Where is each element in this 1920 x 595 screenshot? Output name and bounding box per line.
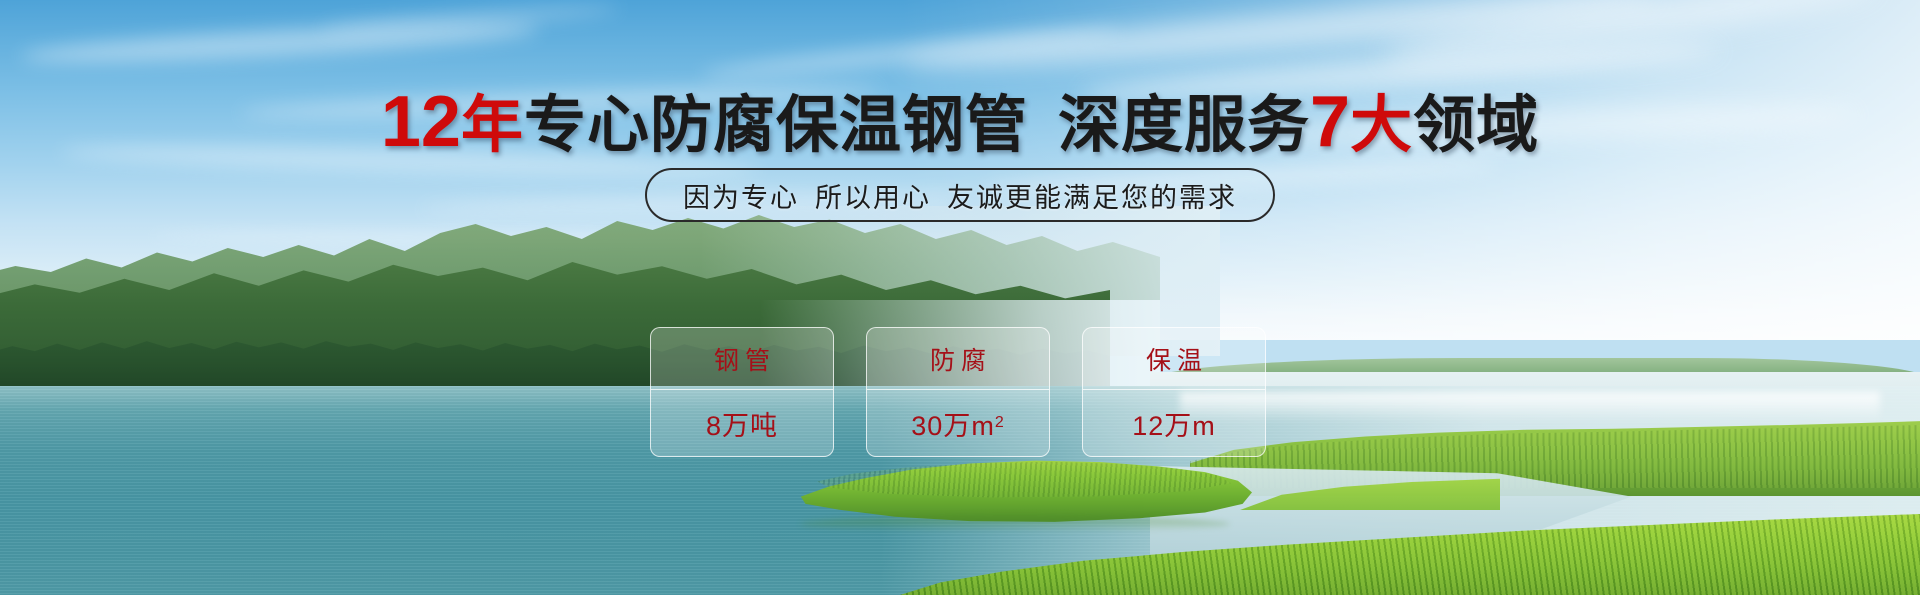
stat-card-steel-pipe[interactable]: 钢管 8万吨 [650,327,834,457]
subtitle-segment-3: 友诚更能满足您的需求 [947,183,1237,213]
subtitle-text: 因为专心所以用心友诚更能满足您的需求 [683,176,1237,215]
subtitle-segment-1: 因为专心 [683,183,799,213]
stat-card-value: 12万m [1083,390,1265,456]
stat-card-label: 保温 [1083,328,1265,390]
subtitle-segment-2: 所以用心 [815,183,931,213]
stat-card-insulation[interactable]: 保温 12万m [1082,327,1266,457]
stat-value-main: 30万m [911,404,995,443]
headline-service-text: 深度服务 [1058,91,1310,160]
stat-card-label: 防腐 [867,328,1049,390]
stat-card-anticorrosion[interactable]: 防腐 30万m2 [866,327,1050,457]
headline-fields-number: 7 [1310,82,1350,162]
stat-value-main: 12万m [1132,404,1216,443]
stat-cards: 钢管 8万吨 防腐 30万m2 保温 12万m [650,327,1266,457]
banner-headline: 12年专心防腐保温钢管深度服务7大领域 [0,86,1920,158]
stat-card-value: 30万m2 [867,390,1049,456]
headline-main-text: 专心防腐保温钢管 [524,91,1028,160]
stat-card-value: 8万吨 [651,390,833,456]
subtitle-pill: 因为专心所以用心友诚更能满足您的需求 [645,168,1275,222]
stat-card-label: 钢管 [651,328,833,390]
headline-fields-suffix: 领域 [1413,91,1539,160]
banner-content: 12年专心防腐保温钢管深度服务7大领域 因为专心所以用心友诚更能满足您的需求 钢… [0,0,1920,595]
stat-value-main: 8万吨 [706,404,778,443]
hero-banner: 12年专心防腐保温钢管深度服务7大领域 因为专心所以用心友诚更能满足您的需求 钢… [0,0,1920,595]
headline-fields-unit: 大 [1350,91,1413,160]
headline-years-number: 12 [381,82,461,162]
headline-years-unit: 年 [461,91,524,160]
